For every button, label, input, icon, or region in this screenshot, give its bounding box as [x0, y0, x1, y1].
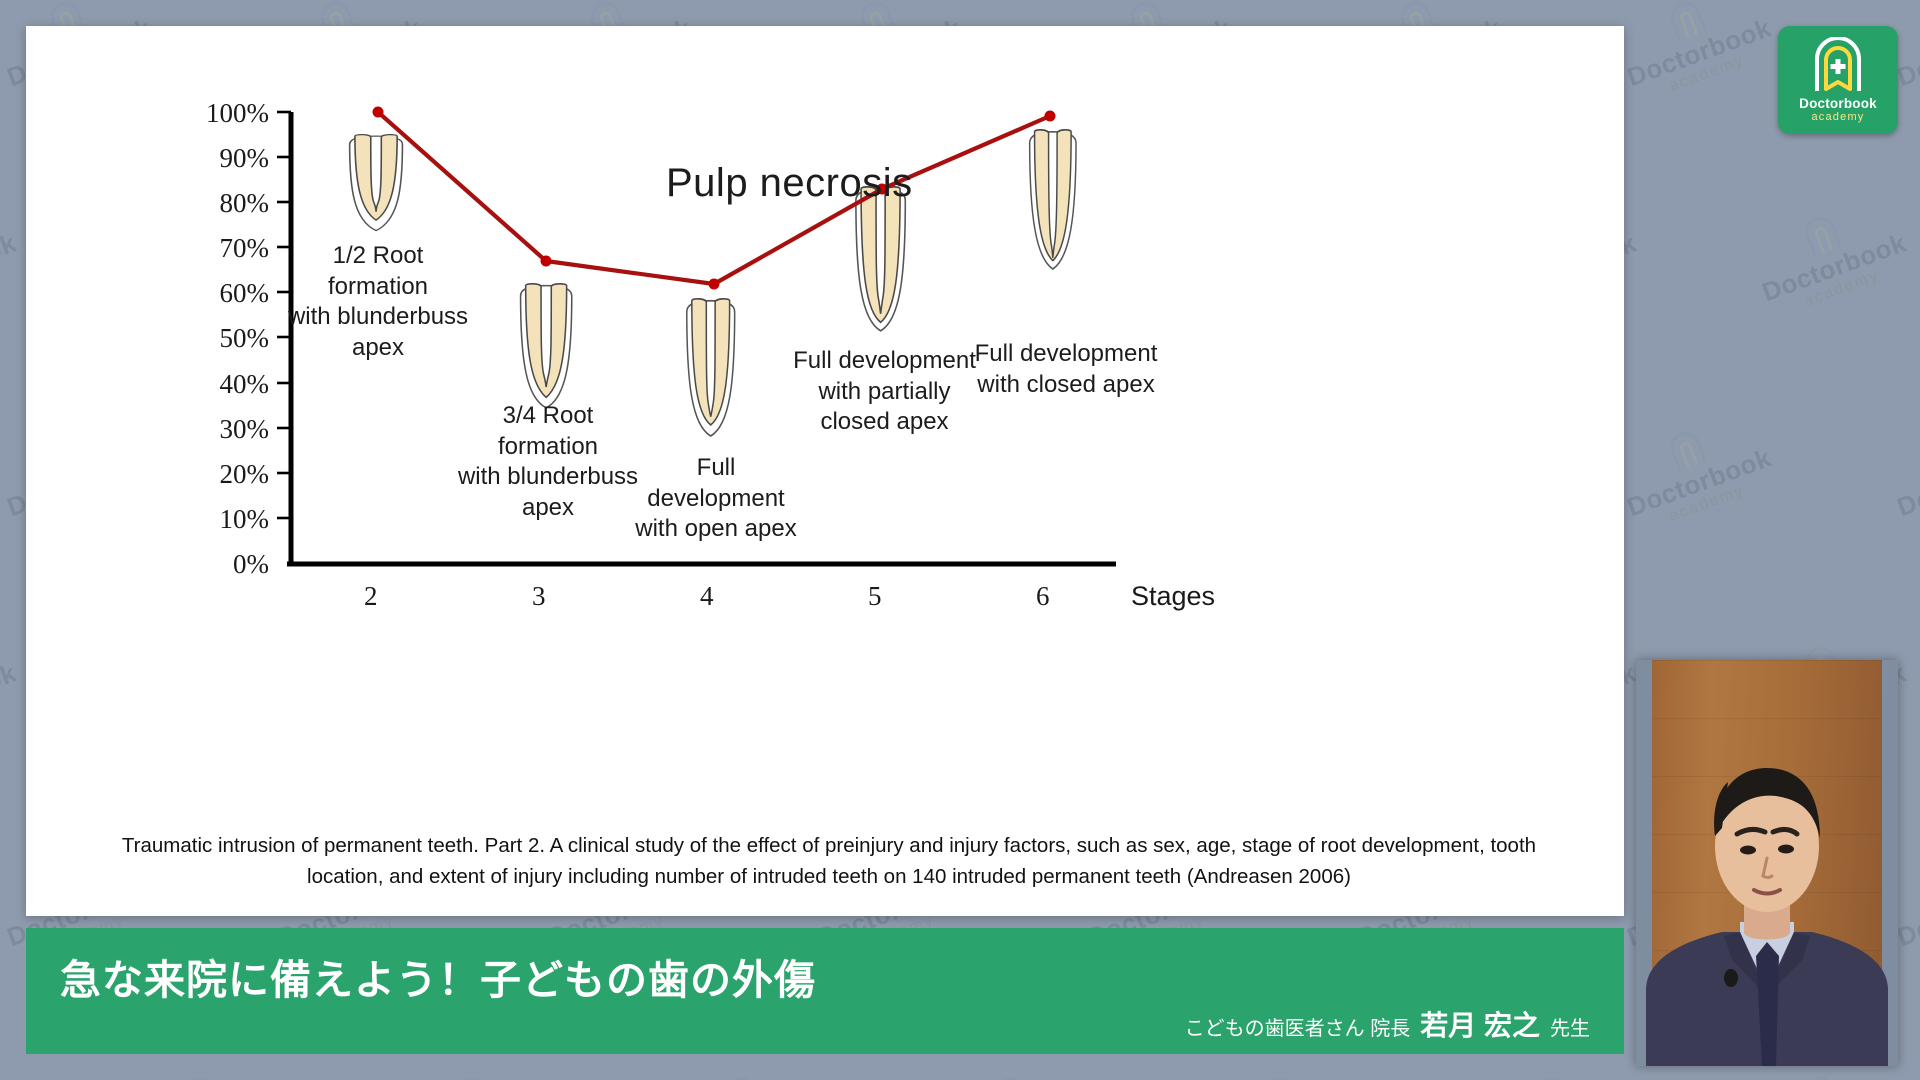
stage-annotation-2: 1/2 Root formation with blunderbuss apex [278, 241, 478, 364]
citation-text: Traumatic intrusion of permanent teeth. … [104, 831, 1554, 893]
credit-name: 若月 宏之 [1420, 1004, 1540, 1044]
watermark-tile: Doctorbookacademy [0, 192, 26, 323]
y-tick-label-70: 70% [181, 233, 269, 264]
x-tick-label-6: 6 [1036, 581, 1050, 612]
y-tick-label-80: 80% [181, 188, 269, 219]
watermark-tile: Doctorbookacademy [935, 1052, 1106, 1080]
watermark-tile: Doctorbookacademy [1880, 407, 1920, 538]
logo-title: Doctorbook [1799, 96, 1877, 111]
doctorbook-academy-logo: Doctorbook academy [1778, 26, 1898, 134]
logo-subtitle: academy [1811, 111, 1864, 123]
tooth-diagram-stage-2 [350, 135, 403, 231]
x-tick-label-3: 3 [532, 581, 546, 612]
stage-annotation-4: Full development with open apex [626, 453, 806, 545]
presenter-figure [1636, 660, 1898, 1066]
chart-title: Pulp necrosis [666, 161, 913, 206]
y-tick-label-40: 40% [181, 369, 269, 400]
y-tick-label-20: 20% [181, 459, 269, 490]
watermark-tile: Doctorbookacademy [395, 1052, 566, 1080]
watermark-tile: Doctorbookacademy [0, 622, 26, 753]
y-tick-label-0: 0% [181, 549, 269, 580]
presenter-video[interactable] [1636, 660, 1898, 1066]
title-banner: 急な来院に備えよう！子どもの歯の外傷 こどもの歯医者さん 院長 若月 宏之 先生 [26, 928, 1624, 1054]
pulp-necrosis-chart: Pulp necrosis 100% 90% 80% 70% 60% 50% 4… [26, 26, 1624, 746]
slide-panel: Pulp necrosis 100% 90% 80% 70% 60% 50% 4… [26, 26, 1624, 916]
stage-annotation-3: 3/4 Root formation with blunderbuss apex [448, 401, 648, 524]
y-tick-label-90: 90% [181, 143, 269, 174]
watermark-tile: Doctorbookacademy [1745, 192, 1916, 323]
watermark-tile: Doctorbookacademy [665, 1052, 836, 1080]
tooth-diagram-stage-4 [687, 299, 735, 436]
watermark-tile: Doctorbookacademy [125, 1052, 296, 1080]
banner-title: 急な来院に備えよう！子どもの歯の外傷 [60, 946, 816, 1006]
watermark-tile: Doctorbookacademy [0, 1052, 26, 1080]
x-axis-title: Stages [1131, 581, 1215, 612]
x-tick-label-2: 2 [364, 581, 378, 612]
tooth-diagram-stage-3 [521, 284, 572, 408]
credit-affiliation: こどもの歯医者さん 院長 [1185, 1012, 1411, 1041]
tooth-diagram-stage-6 [1030, 130, 1076, 269]
stage-annotation-6: Full development with closed apex [951, 339, 1181, 400]
y-tick-label-100: 100% [181, 98, 269, 129]
x-tick-label-5: 5 [868, 581, 882, 612]
tooth-diagram-stage-5 [856, 187, 905, 331]
watermark-tile: Doctorbookacademy [1610, 0, 1781, 108]
y-tick-label-50: 50% [181, 323, 269, 354]
banner-credit: こどもの歯医者さん 院長 若月 宏之 先生 [1185, 1004, 1590, 1044]
watermark-tile: Doctorbookacademy [1205, 1052, 1376, 1080]
y-tick-label-60: 60% [181, 278, 269, 309]
y-tick-label-10: 10% [181, 504, 269, 535]
arch-book-cross-icon [1811, 37, 1865, 93]
x-tick-label-4: 4 [700, 581, 714, 612]
watermark-tile: Doctorbookacademy [1610, 407, 1781, 538]
credit-honorific: 先生 [1550, 1012, 1590, 1041]
y-tick-label-30: 30% [181, 414, 269, 445]
watermark-tile: Doctorbookacademy [1475, 1052, 1646, 1080]
